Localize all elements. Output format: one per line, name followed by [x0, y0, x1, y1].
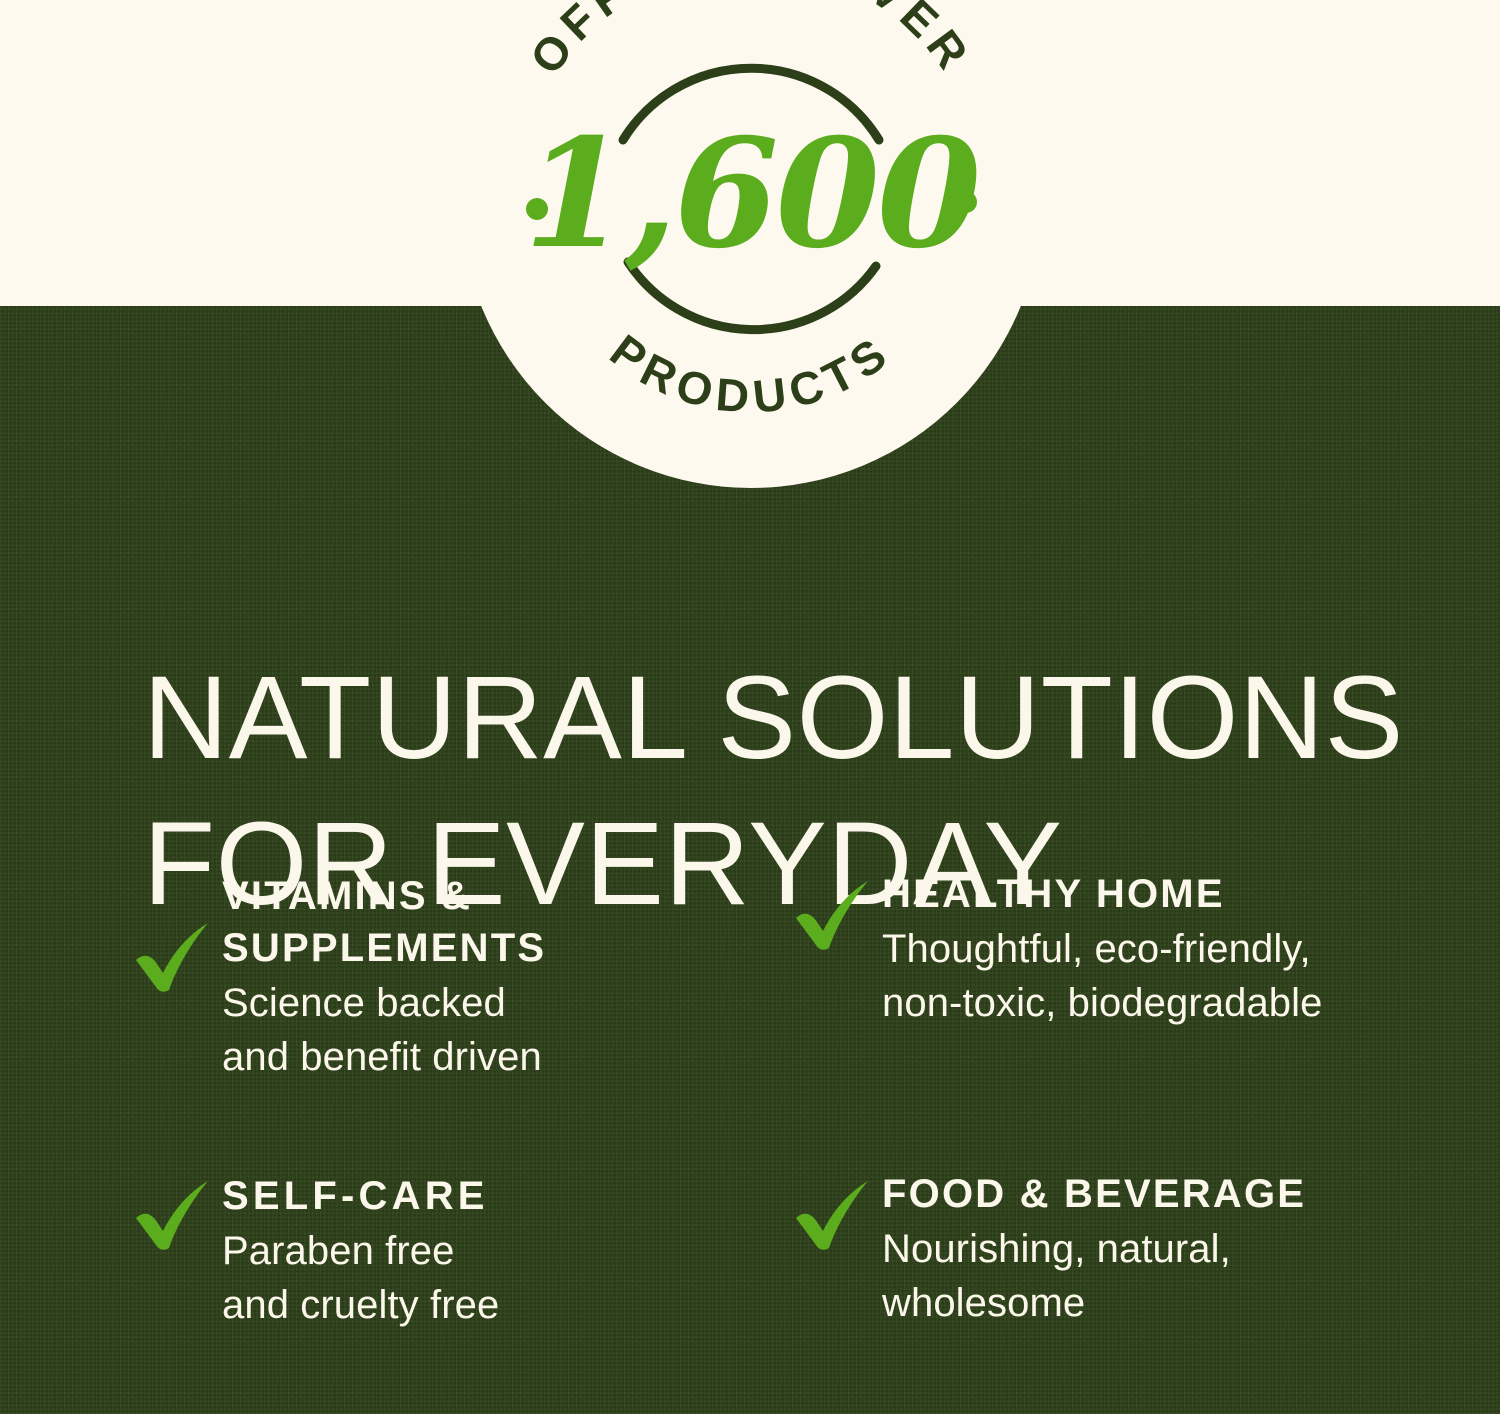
product-count-badge: OFFERING OVER PRODUCTS 1,600: [460, 0, 1042, 488]
check-icon: [132, 920, 218, 994]
check-icon: [132, 1178, 218, 1252]
feature-title: HEALTHY HOME: [882, 868, 1450, 920]
badge-product-count: 1,600: [524, 106, 980, 282]
feature-description: Science backed and benefit driven: [222, 976, 790, 1085]
feature-item-self-care: SELF-CARE Paraben free and cruelty free: [130, 1168, 790, 1414]
feature-item-food-beverage: FOOD & BEVERAGE Nourishing, natural, who…: [790, 1168, 1450, 1414]
check-icon: [792, 1178, 878, 1252]
feature-item-healthy-home: HEALTHY HOME Thoughtful, eco-friendly, n…: [790, 868, 1450, 1168]
feature-item-vitamins-supplements: VITAMINS & SUPPLEMENTS Science backed an…: [130, 868, 790, 1168]
feature-description: Paraben free and cruelty free: [222, 1224, 790, 1333]
feature-description: Thoughtful, eco-friendly, non-toxic, bio…: [882, 922, 1450, 1031]
feature-title: FOOD & BEVERAGE: [882, 1168, 1450, 1220]
feature-body: VITAMINS & SUPPLEMENTS Science backed an…: [222, 868, 790, 1085]
feature-title: VITAMINS & SUPPLEMENTS: [222, 870, 790, 974]
feature-grid: VITAMINS & SUPPLEMENTS Science backed an…: [130, 868, 1450, 1414]
badge-bottom-text: PRODUCTS: [601, 324, 901, 423]
promo-poster: OFFERING OVER PRODUCTS 1,600 NATURAL SOL…: [0, 0, 1500, 1414]
feature-body: SELF-CARE Paraben free and cruelty free: [222, 1168, 790, 1333]
check-icon: [792, 878, 878, 952]
feature-description: Nourishing, natural, wholesome: [882, 1222, 1450, 1331]
feature-title: SELF-CARE: [222, 1170, 790, 1222]
badge-bottom-textpath: PRODUCTS: [601, 324, 901, 423]
feature-body: HEALTHY HOME Thoughtful, eco-friendly, n…: [882, 868, 1450, 1031]
feature-body: FOOD & BEVERAGE Nourishing, natural, who…: [882, 1168, 1450, 1331]
